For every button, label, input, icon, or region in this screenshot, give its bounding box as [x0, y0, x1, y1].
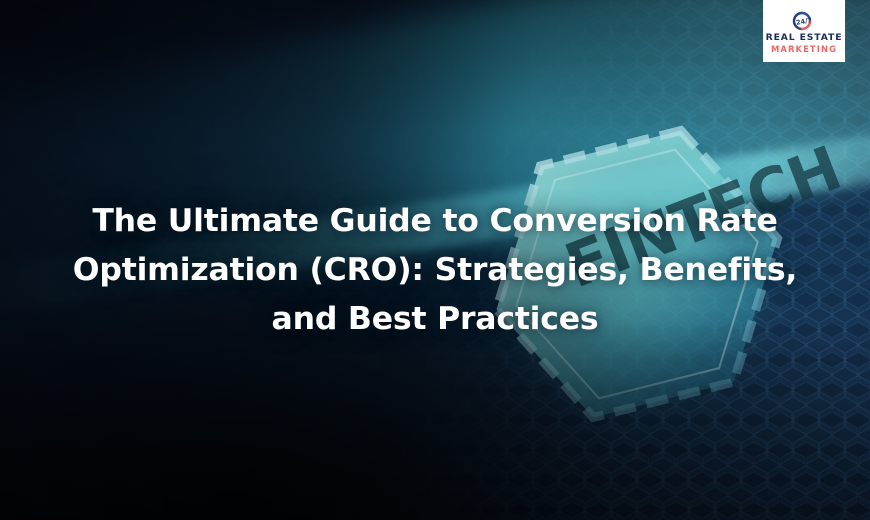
logo-24-7-emblem-icon: 24/7: [787, 11, 821, 31]
brand-logo[interactable]: 24/7 REAL ESTATE MARKETING: [763, 0, 845, 62]
blog-hero-banner: FINTECH The Ultimate Guide to Conversion…: [0, 0, 870, 520]
logo-secondary-text: MARKETING: [771, 45, 837, 53]
logo-primary-text: REAL ESTATE: [766, 33, 843, 42]
page-title: The Ultimate Guide to Conversion Rate Op…: [0, 197, 870, 344]
